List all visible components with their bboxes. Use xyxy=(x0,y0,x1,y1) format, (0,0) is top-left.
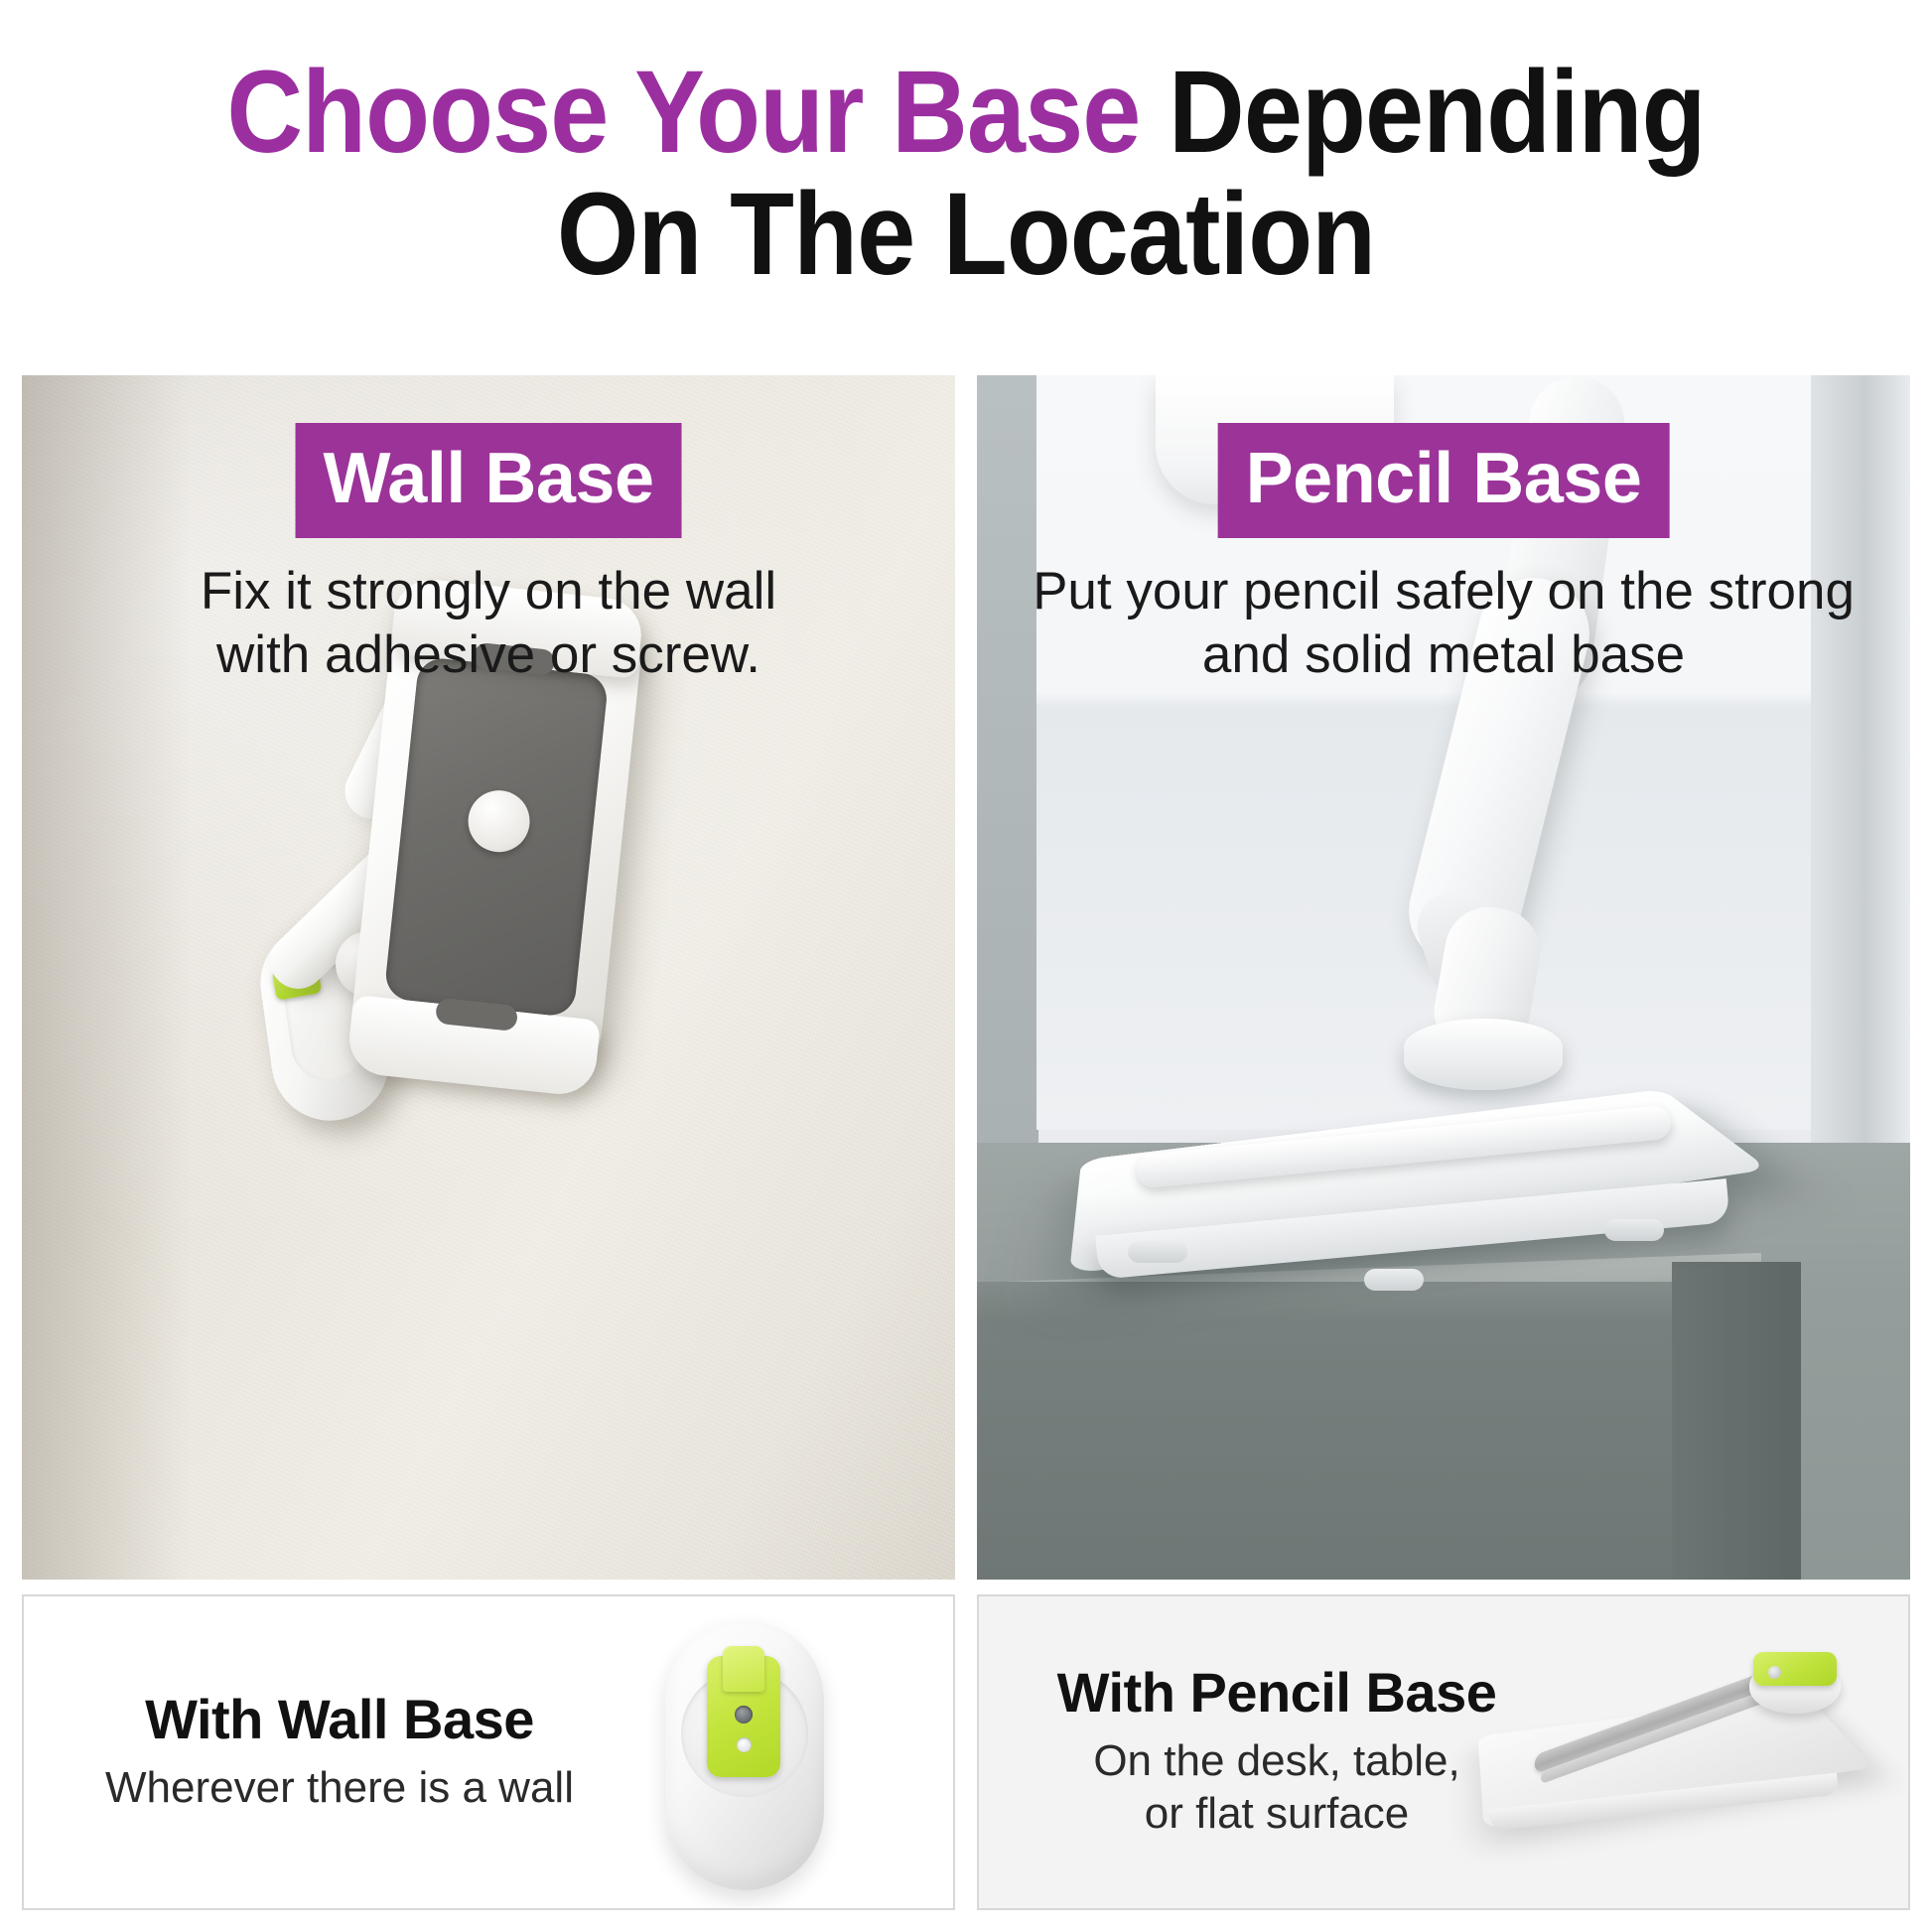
page-title: Choose Your Base Depending On The Locati… xyxy=(0,52,1932,295)
wall-base-thumb-screw-hole xyxy=(735,1706,753,1724)
wall-edge-shade xyxy=(22,375,191,1580)
wall-base-badge: Wall Base xyxy=(296,423,682,538)
pencil-base-foot xyxy=(1128,1241,1187,1263)
with-wall-base-text: With Wall Base Wherever there is a wall xyxy=(81,1691,598,1814)
wall-base-thumbnail xyxy=(665,1620,824,1890)
panels-row: Wall Base Fix it strongly on the wall wi… xyxy=(22,375,1910,1580)
pencil-base-badge: Pencil Base xyxy=(1218,423,1670,538)
wall-base-caption: Fix it strongly on the wall with adhesiv… xyxy=(62,560,915,686)
pencil-base-panel: Pencil Base Put your pencil safely on th… xyxy=(977,375,1910,1580)
pencil-base-caption: Put your pencil safely on the strong and… xyxy=(1017,560,1870,686)
wall-base-panel: Wall Base Fix it strongly on the wall wi… xyxy=(22,375,955,1580)
with-pencil-base-subtitle: On the desk, table, or flat surface xyxy=(1019,1734,1535,1841)
with-pencil-base-card: With Pencil Base On the desk, table, or … xyxy=(977,1594,1910,1910)
pencil-base-foot xyxy=(1364,1269,1424,1291)
title-rest-text: Depending xyxy=(1169,47,1706,178)
studio-desk-edge xyxy=(1672,1262,1801,1580)
title-accent-text: Choose Your Base xyxy=(226,47,1140,178)
studio-left-wall xyxy=(977,375,1038,1179)
wall-base-thumb-green-tab xyxy=(723,1646,764,1692)
wall-base-thumb-screw-hole xyxy=(737,1737,752,1752)
studio-right-wall xyxy=(1811,375,1910,1249)
cards-row: With Wall Base Wherever there is a wall … xyxy=(22,1594,1910,1910)
with-wall-base-card: With Wall Base Wherever there is a wall xyxy=(22,1594,955,1910)
pencil-base-thumb-green-dot xyxy=(1768,1666,1781,1679)
studio-desk-body xyxy=(977,1282,1731,1580)
title-line-1: Choose Your Base Depending xyxy=(96,52,1835,174)
with-wall-base-title: With Wall Base xyxy=(81,1691,598,1749)
with-pencil-base-title: With Pencil Base xyxy=(1019,1664,1535,1723)
with-pencil-base-text: With Pencil Base On the desk, table, or … xyxy=(1019,1664,1535,1841)
title-line-2: On The Location xyxy=(96,174,1835,296)
pencil-base-hub xyxy=(1404,1019,1563,1090)
pencil-base-foot xyxy=(1604,1219,1664,1241)
infographic-page: Choose Your Base Depending On The Locati… xyxy=(0,0,1932,1932)
with-wall-base-subtitle: Wherever there is a wall xyxy=(81,1761,598,1815)
pencil-base-thumbnail xyxy=(1475,1652,1892,1864)
pencil-base-thumb-green-clip xyxy=(1753,1652,1837,1686)
